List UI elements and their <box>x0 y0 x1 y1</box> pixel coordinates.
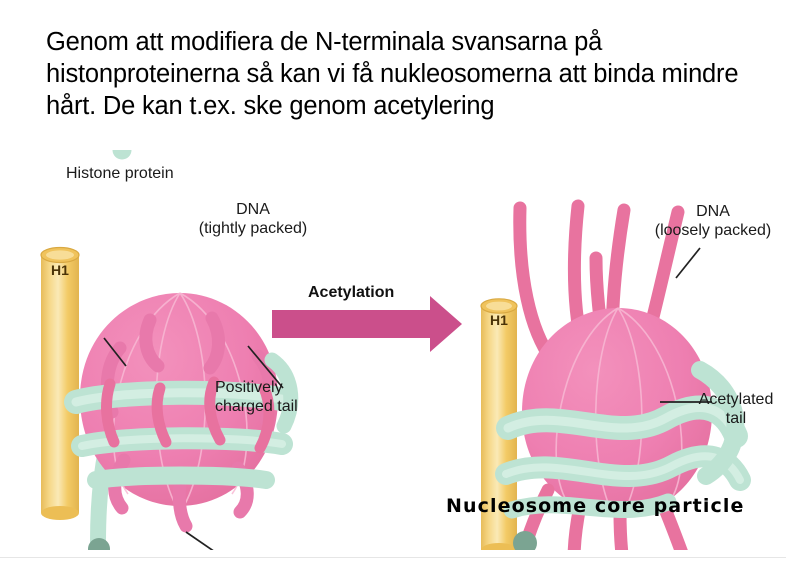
label-dna-loosely-packed: DNA (loosely packed) <box>640 202 786 240</box>
bottom-divider <box>0 557 786 558</box>
figure-caption: Nucleosome core particle <box>446 495 744 517</box>
h1-label-left: H1 <box>41 262 79 278</box>
label-dna-tightly-packed: DNA (tightly packed) <box>178 200 328 238</box>
leader-positive-tail <box>186 532 218 550</box>
h1-cylinder-left <box>41 248 79 521</box>
nucleosome-figure: Histone protein DNA (tightly packed) Pos… <box>0 150 786 550</box>
label-histone-protein: Histone protein <box>66 164 174 183</box>
label-acetylated-tail: Acetylated tail <box>686 390 786 428</box>
slide-canvas: Genom att modifiera de N-terminala svans… <box>0 0 786 564</box>
acetylation-arrow-label: Acetylation <box>308 284 394 302</box>
label-positively-charged-tail: Positively charged tail <box>215 378 298 416</box>
h1-label-right: H1 <box>481 312 517 328</box>
acetylation-arrow-shape <box>272 296 462 352</box>
leader-dna-loose <box>676 248 700 278</box>
slide-title: Genom att modifiera de N-terminala svans… <box>46 26 762 122</box>
